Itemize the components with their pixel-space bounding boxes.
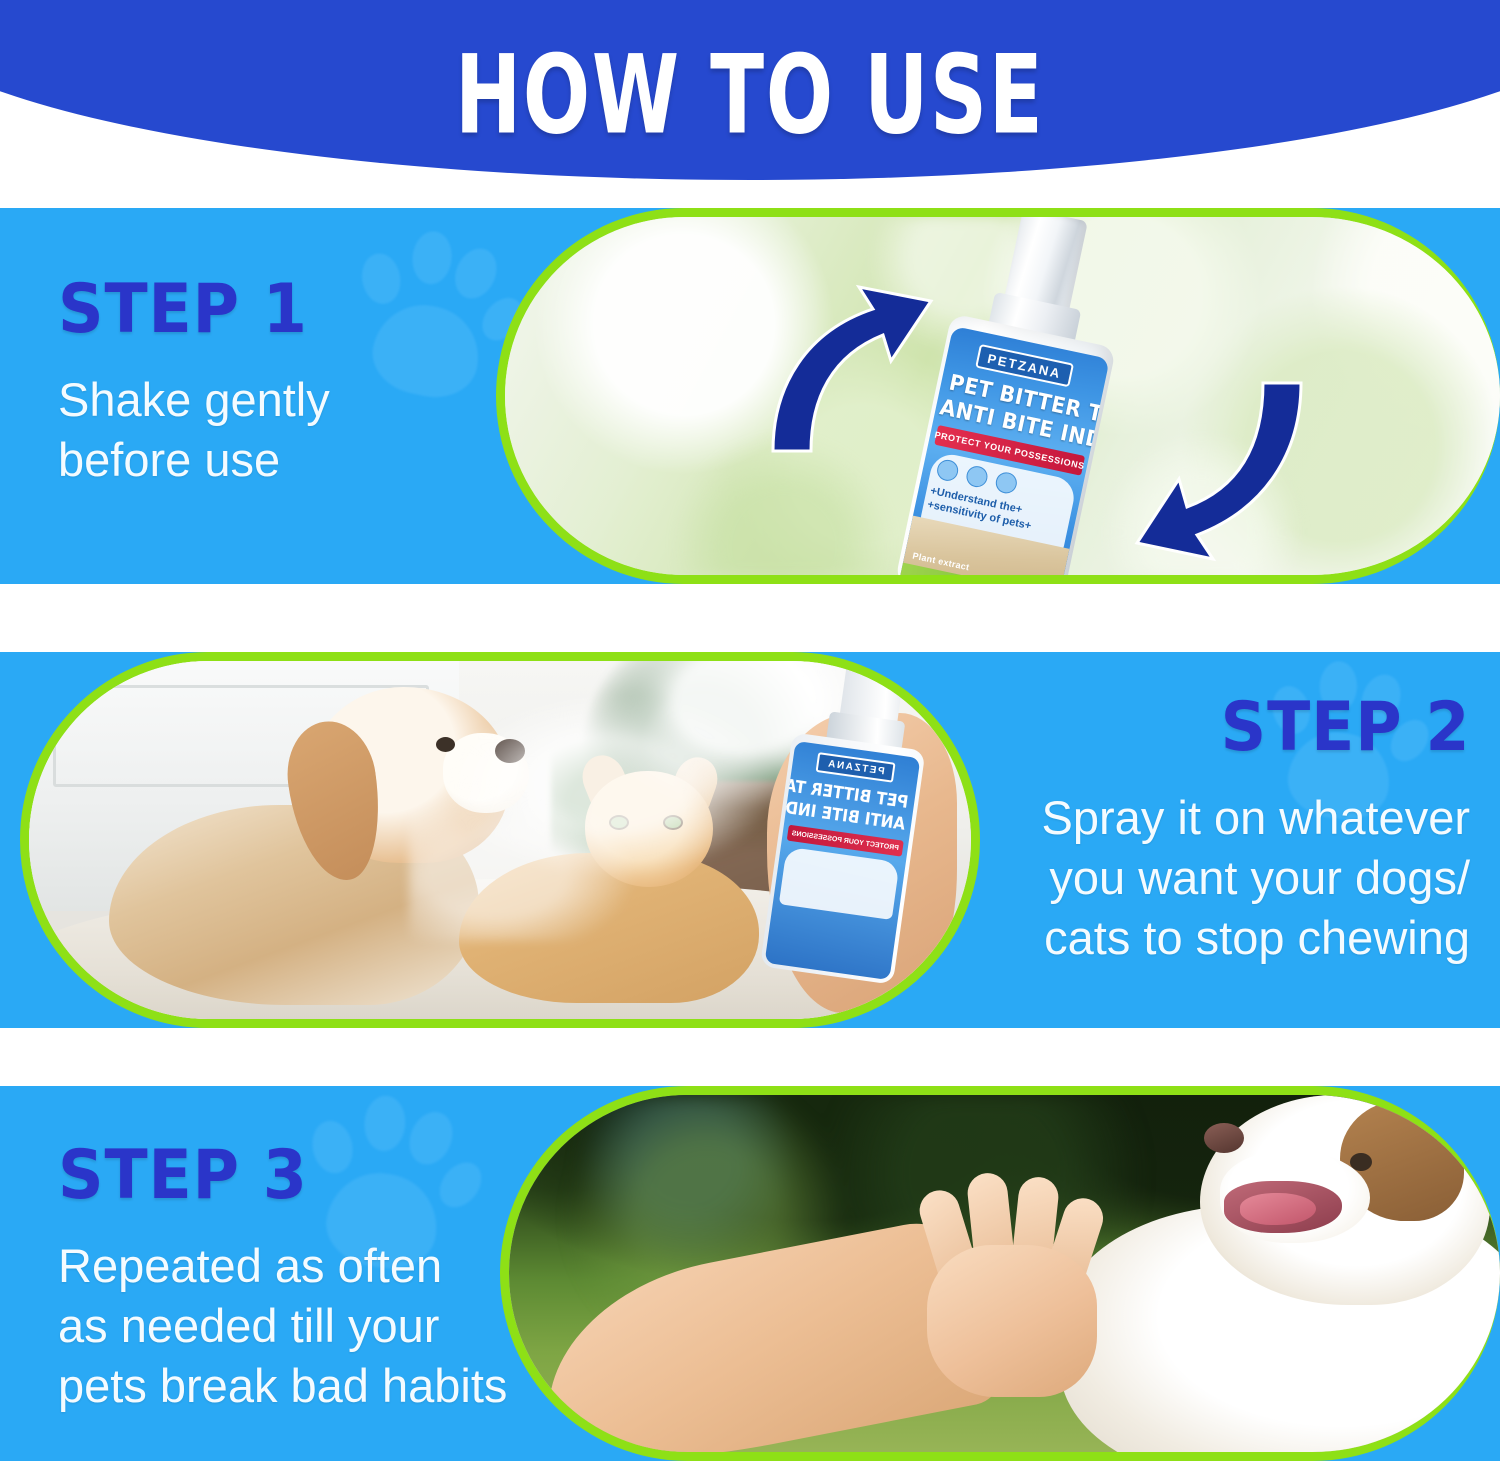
step-1-heading: STEP 1 xyxy=(58,276,311,344)
page-title: HOW TO USE xyxy=(0,0,1500,176)
shake-arrow-down-icon xyxy=(1105,367,1315,575)
human-hand-high-five xyxy=(909,1173,1139,1403)
step-3-text: STEP 3 Repeated as often as needed till … xyxy=(58,1142,507,1416)
step-2-heading: STEP 2 xyxy=(1072,694,1470,762)
bottle-white-panel xyxy=(779,847,900,920)
page-title-text: HOW TO USE xyxy=(455,32,1045,158)
step-3-image-card xyxy=(500,1086,1500,1461)
step-3-heading: STEP 3 xyxy=(58,1142,476,1210)
feature-icon-3 xyxy=(994,470,1019,495)
shake-arrow-up-icon xyxy=(755,265,955,465)
how-to-use-infographic: HOW TO USE STEP 1 Shake gently before us… xyxy=(0,0,1500,1461)
step-1-scene-garden: PETZANA PET BITTER TASTE ANTI BITE INDUC… xyxy=(505,217,1500,575)
step-2-image-card: PETZANA PET BITTER TASTE ANTI BITE INDUC… xyxy=(20,652,980,1028)
step-3-scene-outdoor xyxy=(509,1095,1500,1452)
feature-icon-2 xyxy=(965,464,990,489)
step-2-body: Spray it on whatever you want your dogs/… xyxy=(1042,788,1470,968)
step-1-body: Shake gently before use xyxy=(58,370,330,490)
step-2-scene-indoor: PETZANA PET BITTER TASTE ANTI BITE INDUC… xyxy=(29,661,971,1019)
step-1-image-card: PETZANA PET BITTER TASTE ANTI BITE INDUC… xyxy=(496,208,1500,584)
bottle-brand: PETZANA xyxy=(816,752,896,783)
step-1-text: STEP 1 Shake gently before use xyxy=(58,276,330,490)
step-2-text: STEP 2 Spray it on whatever you want you… xyxy=(1042,694,1470,968)
step-3-body: Repeated as often as needed till your pe… xyxy=(58,1236,507,1416)
